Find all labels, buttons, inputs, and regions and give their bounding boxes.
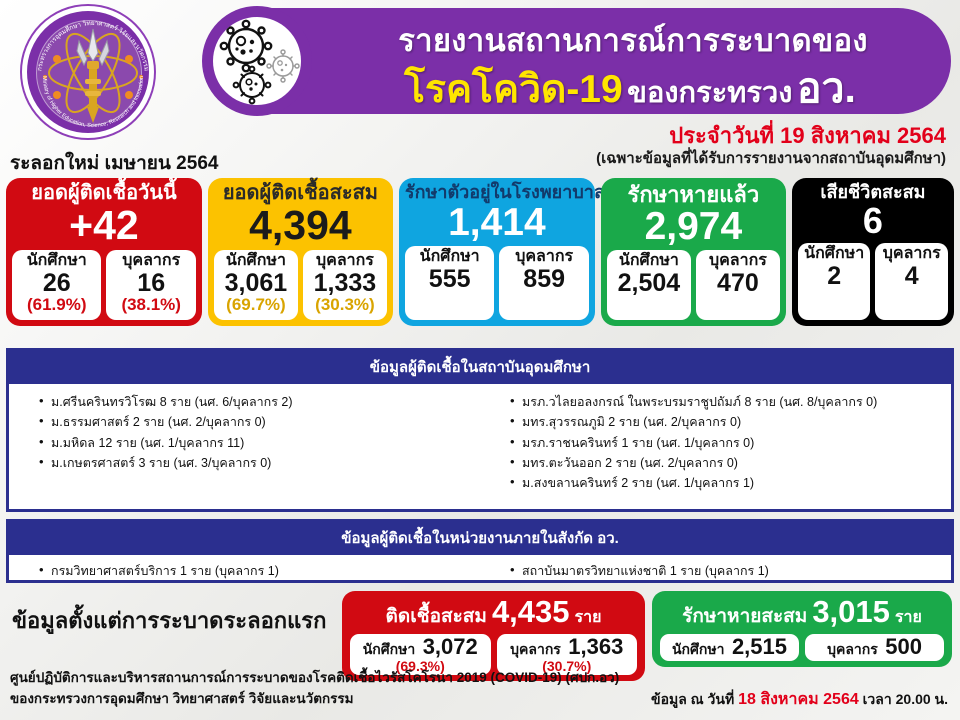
panel-institutions-left-column: ม.ศรีนครินทรวิโรฒ 8 ราย (นศ. 6/บุคลากร 2…	[9, 392, 480, 493]
stat-card-deaths: เสียชีวิตสะสม 6 นักศึกษา 2 บุคลากร 4	[792, 178, 954, 326]
cell-label: บุคลากร	[827, 641, 878, 657]
cell-label: นักศึกษา	[363, 641, 416, 657]
footer-asof: ข้อมูล ณ วันที่ 18 สิงหาคม 2564 เวลา 20.…	[651, 687, 948, 712]
wave-label: ระลอกใหม่ เมษายน 2564	[10, 148, 218, 178]
sub-label: นักศึกษา	[619, 253, 679, 270]
card-sub-students: นักศึกษา 3,061 (69.7%)	[214, 250, 298, 320]
sub-value: 2,504	[618, 270, 681, 296]
disease-name: โรคโควิด-19	[404, 68, 623, 111]
sub-value: 2	[827, 263, 841, 289]
sub-label: บุคลากร	[883, 246, 941, 263]
sub-label: นักศึกษา	[27, 253, 87, 270]
summary-label: ติดเชื้อสะสม	[386, 601, 487, 631]
list-item: มรภ.ราชนครินทร์ 1 ราย (นศ. 1/บุคลากร 0)	[510, 433, 951, 453]
panel-agencies-title: ข้อมูลผู้ติดเชื้อในหน่วยงานภายในสังกัด อ…	[9, 522, 951, 555]
summary-value: 4,435	[492, 594, 570, 630]
ministry-of-label: ของกระทรวง	[627, 77, 792, 109]
svg-text:Ministry of Higher Education,: Ministry of Higher Education, Science, R…	[41, 76, 145, 129]
sub-value: 3,061	[225, 270, 288, 296]
sub-pct: (38.1%)	[121, 296, 181, 314]
sub-label: บุคลากร	[122, 253, 180, 270]
since-first-wave-label: ข้อมูลตั้งแต่การระบาดระลอกแรก	[12, 603, 326, 638]
list-item: กรมวิทยาศาสตร์บริการ 1 ราย (บุคลากร 1)	[39, 561, 480, 581]
card-sub-students: นักศึกษา 2,504	[607, 250, 691, 320]
summary-value: 3,015	[812, 594, 890, 630]
list-item: สถาบันมาตรวิทยาแห่งชาติ 1 ราย (บุคลากร 1…	[510, 561, 951, 581]
sub-value: 4	[905, 263, 919, 289]
list-item: มรภ.วไลยอลงกรณ์ ในพระบรมราชูปถัมภ์ 8 ราย…	[510, 392, 951, 412]
list-item: ม.ธรรมศาสตร์ 2 ราย (นศ. 2/บุคลากร 0)	[39, 412, 480, 432]
list-item: มทร.สุวรรณภูมิ 2 ราย (นศ. 2/บุคลากร 0)	[510, 412, 951, 432]
stat-card-recovered: รักษาหายแล้ว 2,974 นักศึกษา 2,504 บุคลาก…	[601, 178, 786, 326]
asof-date: 18 สิงหาคม 2564	[738, 691, 859, 708]
panel-agencies: ข้อมูลผู้ติดเชื้อในหน่วยงานภายในสังกัด อ…	[6, 519, 954, 583]
list-item: มทร.ตะวันออก 2 ราย (นศ. 2/บุคลากร 0)	[510, 453, 951, 473]
sub-value: 859	[523, 266, 565, 292]
list-item: ม.สงขลานครินทร์ 2 ราย (นศ. 1/บุคลากร 1)	[510, 473, 951, 493]
footer-org-line2: ของกระทรวงการอุดมศึกษา วิทยาศาสตร์ วิจัย…	[10, 687, 354, 709]
report-date-note: (เฉพาะข้อมูลที่ได้รับการรายงานจากสถาบันอ…	[596, 146, 946, 170]
card-value: 2,974	[607, 207, 780, 246]
stat-card-row: ยอดผู้ติดเชื้อวันนี้ +42 นักศึกษา 26 (61…	[6, 178, 954, 326]
summary-label: รักษาหายสะสม	[682, 601, 807, 631]
summary-cell-students: นักศึกษา 2,515	[660, 634, 799, 661]
cell-value: 500	[885, 634, 922, 659]
card-title: รักษาหายแล้ว	[607, 183, 780, 206]
cell-value: 3,072	[423, 634, 478, 659]
sub-label: บุคลากร	[709, 253, 767, 270]
list-item: ม.ศรีนครินทรวิโรฒ 8 ราย (นศ. 6/บุคลากร 2…	[39, 392, 480, 412]
sub-label: นักศึกษา	[226, 253, 286, 270]
card-title: รักษาตัวอยู่ในโรงพยาบาล	[405, 183, 589, 202]
card-value: +42	[12, 205, 196, 246]
sub-label: นักศึกษา	[420, 249, 480, 266]
sub-label: บุคลากร	[316, 253, 374, 270]
cell-label: บุคลากร	[510, 641, 561, 657]
stat-card-new-cases-today: ยอดผู้ติดเชื้อวันนี้ +42 นักศึกษา 26 (61…	[6, 178, 202, 326]
card-sub-staff: บุคลากร 859	[499, 246, 589, 320]
report-title-line2: โรคโควิด-19 ของกระทรวง อว.	[315, 56, 945, 121]
title-banner: รายงานสถานการณ์การระบาดของ โรคโควิด-19 ข…	[203, 8, 951, 114]
ministry-logo: กระทรวงการอุดมศึกษา วิทยาศาสตร์ วิจัยและ…	[22, 6, 162, 146]
virus-badge	[202, 6, 312, 116]
card-sub-students: นักศึกษา 26 (61.9%)	[12, 250, 101, 320]
card-value: 6	[798, 203, 948, 239]
card-value: 4,394	[214, 205, 387, 246]
coronavirus-icon	[213, 17, 301, 105]
sub-label: นักศึกษา	[804, 246, 864, 263]
card-sub-staff: บุคลากร 1,333 (30.3%)	[303, 250, 387, 320]
sub-value: 16	[137, 270, 165, 296]
summary-unit: ราย	[895, 605, 922, 630]
page-footer: ศูนย์ปฏิบัติการและบริหารสถานการณ์การระบา…	[0, 662, 960, 720]
asof-suffix: เวลา 20.00 น.	[859, 691, 948, 707]
logo-ring-text: กระทรวงการอุดมศึกษา วิทยาศาสตร์ วิจัยและ…	[27, 11, 154, 138]
card-title: ยอดผู้ติดเชื้อสะสม	[214, 183, 387, 204]
cell-value: 1,363	[568, 634, 623, 659]
svg-text:กระทรวงการอุดมศึกษา วิทยาศาสตร: กระทรวงการอุดมศึกษา วิทยาศาสตร์ วิจัยและ…	[36, 19, 149, 71]
sub-value: 1,333	[314, 270, 377, 296]
card-sub-staff: บุคลากร 4	[875, 243, 948, 320]
asof-prefix: ข้อมูล ณ วันที่	[651, 691, 738, 707]
sub-label: บุคลากร	[515, 249, 573, 266]
cumulative-summary-row: ข้อมูลตั้งแต่การระบาดระลอกแรก ติดเชื้อสะ…	[0, 589, 960, 661]
sub-pct: (61.9%)	[27, 296, 87, 314]
page-header: กระทรวงการอุดมศึกษา วิทยาศาสตร์ วิจัยและ…	[0, 0, 960, 128]
summary-unit: ราย	[575, 605, 602, 630]
sub-pct: (30.3%)	[315, 296, 375, 314]
card-value: 1,414	[405, 203, 589, 242]
card-sub-students: นักศึกษา 2	[798, 243, 871, 320]
card-title: ยอดผู้ติดเชื้อวันนี้	[12, 183, 196, 204]
sub-value: 555	[429, 266, 471, 292]
cell-label: นักศึกษา	[672, 641, 725, 657]
cell-value: 2,515	[732, 634, 787, 659]
card-sub-staff: บุคลากร 470	[696, 250, 780, 320]
card-sub-students: นักศึกษา 555	[405, 246, 495, 320]
list-item: ม.มหิดล 12 ราย (นศ. 1/บุคลากร 11)	[39, 433, 480, 453]
panel-institutions: ข้อมูลผู้ติดเชื้อในสถาบันอุดมศึกษา ม.ศรี…	[6, 348, 954, 512]
stat-card-cumulative-cases: ยอดผู้ติดเชื้อสะสม 4,394 นักศึกษา 3,061 …	[208, 178, 393, 326]
panel-agencies-right-column: สถาบันมาตรวิทยาแห่งชาติ 1 ราย (บุคลากร 1…	[480, 561, 951, 581]
card-sub-staff: บุคลากร 16 (38.1%)	[106, 250, 195, 320]
list-item: ม.เกษตรศาสตร์ 3 ราย (นศ. 3/บุคลากร 0)	[39, 453, 480, 473]
panel-institutions-right-column: มรภ.วไลยอลงกรณ์ ในพระบรมราชูปถัมภ์ 8 ราย…	[480, 392, 951, 493]
summary-cell-staff: บุคลากร 500	[805, 634, 944, 661]
sub-pct: (69.7%)	[226, 296, 286, 314]
summary-box-recovered: รักษาหายสะสม 3,015 ราย นักศึกษา 2,515 บุ…	[652, 591, 952, 667]
ministry-abbrev: อว.	[797, 65, 856, 111]
sub-value: 470	[717, 270, 759, 296]
footer-org-line1: ศูนย์ปฏิบัติการและบริหารสถานการณ์การระบา…	[10, 666, 619, 688]
sub-value: 26	[43, 270, 71, 296]
stat-card-in-hospital: รักษาตัวอยู่ในโรงพยาบาล 1,414 นักศึกษา 5…	[399, 178, 595, 326]
panel-institutions-title: ข้อมูลผู้ติดเชื้อในสถาบันอุดมศึกษา	[9, 351, 951, 384]
panel-agencies-left-column: กรมวิทยาศาสตร์บริการ 1 ราย (บุคลากร 1)	[9, 561, 480, 581]
